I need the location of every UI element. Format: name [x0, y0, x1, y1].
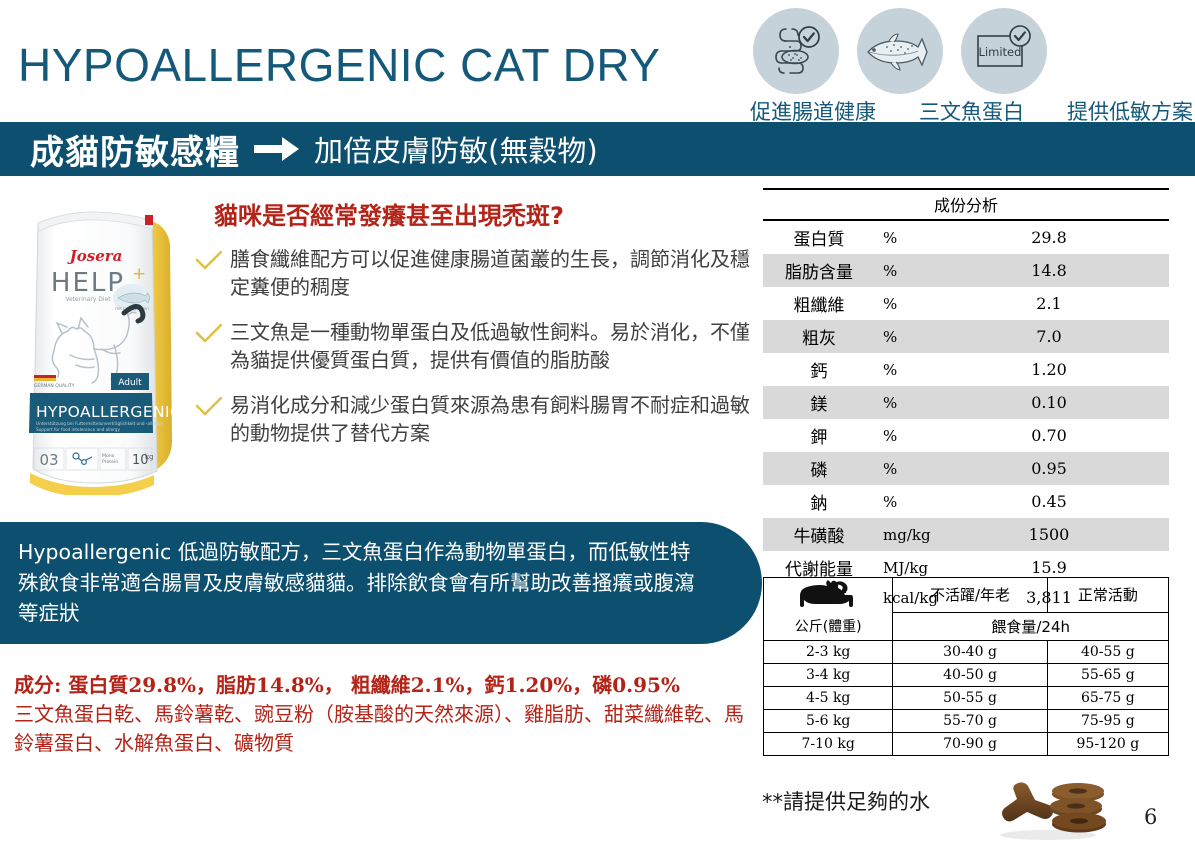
feeding-normal: 95-120 g	[1047, 732, 1168, 755]
nutrient-value: 7.0	[967, 320, 1169, 353]
feeding-header-row: 不活躍/年老 正常活動	[764, 578, 1169, 613]
nutrient-unit: %	[875, 320, 967, 353]
bag-variant-sub-de: Unterstützung bei Futtermittelunverträgl…	[36, 421, 163, 426]
nutrient-unit: %	[875, 485, 967, 518]
table-row: 3-4 kg 40-50 g 55-65 g	[764, 663, 1169, 686]
nutrient-unit: mg/kg	[875, 518, 967, 551]
nutrient-name: 脂肪含量	[763, 254, 875, 287]
svg-text:Mono: Mono	[102, 453, 115, 459]
table-row: 鈣 % 1.20	[763, 353, 1169, 386]
nutrient-value: 0.70	[967, 419, 1169, 452]
table-row: 4-5 kg 50-55 g 65-75 g	[764, 686, 1169, 709]
ingredients-analysis-line: 成分: 蛋白質29.8%，脂肪14.8%， 粗纖維2.1%，鈣1.20%，磷0.…	[14, 671, 754, 700]
slide-page: HYPOALLERGENIC CAT DRY	[0, 0, 1195, 843]
table-row: 5-6 kg 55-70 g 75-95 g	[764, 709, 1169, 732]
check-icon	[196, 391, 230, 422]
table-row: 7-10 kg 70-90 g 95-120 g	[764, 732, 1169, 755]
bag-weight-unit: kg	[145, 453, 154, 461]
nutrient-name: 牛磺酸	[763, 518, 875, 551]
nutrient-name: 鉀	[763, 419, 875, 452]
feeding-weight: 7-10 kg	[764, 732, 893, 755]
badge-limited-ingredients: Limited	[956, 8, 1052, 94]
nutrient-name: 粗灰	[763, 320, 875, 353]
nutrition-caption: 成份分析	[763, 189, 1169, 220]
ingredients-block: 成分: 蛋白質29.8%，脂肪14.8%， 粗纖維2.1%，鈣1.20%，磷0.…	[14, 671, 754, 758]
nutrient-unit: %	[875, 254, 967, 287]
feeding-weight: 3-4 kg	[764, 663, 893, 686]
band-sub-text: 加倍皮膚防敏(無穀物)	[314, 128, 598, 170]
bag-line-name: HELP	[51, 268, 125, 298]
nutrient-unit: %	[875, 353, 967, 386]
feeding-inactive: 55-70 g	[893, 709, 1047, 732]
limited-box-text: Limited	[979, 45, 1022, 59]
salmon-fish-icon	[863, 29, 937, 73]
page-number: 6	[1144, 805, 1157, 829]
feeding-normal: 40-55 g	[1047, 640, 1168, 663]
svg-text:GERMAN QUALITY: GERMAN QUALITY	[34, 383, 75, 389]
summary-callout-text: Hypoallergenic 低過防敏配方，三文魚蛋白作為動物單蛋白，而低敏性特…	[0, 537, 762, 629]
nutrition-table: 成份分析 蛋白質 % 29.8 脂肪含量 % 14.8 粗纖維 % 2.1 粗灰…	[763, 188, 1169, 611]
feeding-normal: 65-75 g	[1047, 686, 1168, 709]
table-row: 粗灰 % 7.0	[763, 320, 1169, 353]
nutrient-unit: %	[875, 386, 967, 419]
cat-silhouette-icon	[764, 578, 893, 613]
check-icon	[196, 245, 230, 276]
nutrient-value: 29.8	[967, 220, 1169, 254]
page-title: HYPOALLERGENIC CAT DRY	[18, 42, 660, 88]
bag-age-badge: Adult	[118, 378, 142, 388]
feeding-weight: 4-5 kg	[764, 686, 893, 709]
nutrient-value: 1.20	[967, 353, 1169, 386]
nutrient-value: 0.45	[967, 485, 1169, 518]
water-note: **請提供足夠的水	[762, 786, 930, 816]
table-row: 鉀 % 0.70	[763, 419, 1169, 452]
nutrition-caption-row: 成份分析	[763, 189, 1169, 220]
feeding-normal: 75-95 g	[1047, 709, 1168, 732]
nutrient-name: 蛋白質	[763, 220, 875, 254]
feeding-weight: 5-6 kg	[764, 709, 893, 732]
feeding-weight: 2-3 kg	[764, 640, 893, 663]
nutrient-value: 2.1	[967, 287, 1169, 320]
badge-circle	[857, 8, 943, 94]
benefits-list: 貓咪是否經常發癢甚至出現禿斑? 膳食纖維配方可以促進健康腸道菌叢的生長，調節消化…	[196, 196, 756, 463]
benefits-heading: 貓咪是否經常發癢甚至出現禿斑?	[214, 196, 756, 231]
bag-number: 03	[39, 451, 58, 469]
benefit-text: 膳食纖維配方可以促進健康腸道菌叢的生長，調節消化及穩定糞便的稠度	[230, 245, 756, 302]
svg-text:Protein: Protein	[102, 459, 118, 465]
badge-salmon-protein	[852, 8, 948, 94]
feeding-col-inactive: 不活躍/年老	[893, 578, 1047, 613]
feeding-col-normal: 正常活動	[1047, 578, 1168, 613]
feeding-normal: 55-65 g	[1047, 663, 1168, 686]
bag-line-sub: Veterinary Diet	[65, 296, 111, 303]
benefit-item: 易消化成分和減少蛋白質來源為患有飼料腸胃不耐症和過敏的動物提供了替代方案	[196, 391, 756, 448]
check-icon	[196, 318, 230, 349]
bag-plus-icon: +	[132, 264, 146, 284]
kibble-pieces-icon	[990, 778, 1110, 840]
nutrient-name: 鈣	[763, 353, 875, 386]
nutrient-name: 粗纖維	[763, 287, 875, 320]
table-row: 蛋白質 % 29.8	[763, 220, 1169, 254]
table-row: 鎂 % 0.10	[763, 386, 1169, 419]
benefit-item: 三文魚是一種動物單蛋白及低過敏性飼料。易於消化，不僅為貓提供優質蛋白質，提供有價…	[196, 318, 756, 375]
summary-callout: Hypoallergenic 低過防敏配方，三文魚蛋白作為動物單蛋白，而低敏性特…	[0, 522, 762, 644]
feeding-weight-label: 公斤(體重)	[764, 612, 893, 640]
feeding-inactive: 30-40 g	[893, 640, 1047, 663]
product-bag-image: Josera HELP + Veterinary Diet mit Lachsp…	[14, 205, 194, 495]
ingredients-composition-line: 三文魚蛋白乾、馬鈴薯乾、豌豆粉（胺基酸的天然來源）、雞脂肪、甜菜纖維乾、馬鈴薯蛋…	[14, 700, 754, 758]
feature-badges: Limited	[748, 8, 1188, 94]
nutrient-value: 0.10	[967, 386, 1169, 419]
nutrient-value: 14.8	[967, 254, 1169, 287]
feeding-amount-label: 餵食量/24h	[893, 612, 1169, 640]
table-row: 脂肪含量 % 14.8	[763, 254, 1169, 287]
nutrient-name: 磷	[763, 452, 875, 485]
nutrient-unit: %	[875, 419, 967, 452]
bag-variant: HYPOALLERGENIC	[36, 403, 181, 421]
bag-brand: Josera	[67, 247, 123, 265]
intestine-check-icon	[766, 21, 826, 81]
benefit-item: 膳食纖維配方可以促進健康腸道菌叢的生長，調節消化及穩定糞便的稠度	[196, 245, 756, 302]
table-row: 2-3 kg 30-40 g 40-55 g	[764, 640, 1169, 663]
benefit-text: 三文魚是一種動物單蛋白及低過敏性飼料。易於消化，不僅為貓提供優質蛋白質，提供有價…	[230, 318, 756, 375]
nutrient-unit: %	[875, 452, 967, 485]
feeding-subheader-row: 公斤(體重) 餵食量/24h	[764, 612, 1169, 640]
bag-variant-sub-en: Support for food intolerance and allergy	[36, 427, 120, 432]
subtitle-band: 成貓防敏感糧 加倍皮膚防敏(無穀物)	[0, 122, 1195, 176]
limited-box-check-icon: Limited	[972, 22, 1036, 80]
table-row: 粗纖維 % 2.1	[763, 287, 1169, 320]
band-main-text: 成貓防敏感糧	[30, 125, 240, 174]
arrow-right-icon	[254, 136, 300, 162]
nutrient-value: 1500	[967, 518, 1169, 551]
table-row: 牛磺酸 mg/kg 1500	[763, 518, 1169, 551]
badge-circle	[753, 8, 839, 94]
feeding-inactive: 70-90 g	[893, 732, 1047, 755]
feeding-inactive: 40-50 g	[893, 663, 1047, 686]
feeding-table: 不活躍/年老 正常活動 公斤(體重) 餵食量/24h 2-3 kg 30-40 …	[763, 577, 1169, 756]
table-row: 磷 % 0.95	[763, 452, 1169, 485]
nutrient-unit: %	[875, 220, 967, 254]
table-row: 鈉 % 0.45	[763, 485, 1169, 518]
benefit-text: 易消化成分和減少蛋白質來源為患有飼料腸胃不耐症和過敏的動物提供了替代方案	[230, 391, 756, 448]
nutrient-name: 鎂	[763, 386, 875, 419]
nutrient-name: 鈉	[763, 485, 875, 518]
badge-circle: Limited	[961, 8, 1047, 94]
nutrient-value: 0.95	[967, 452, 1169, 485]
feeding-inactive: 50-55 g	[893, 686, 1047, 709]
nutrient-unit: %	[875, 287, 967, 320]
badge-gut-health	[748, 8, 844, 94]
